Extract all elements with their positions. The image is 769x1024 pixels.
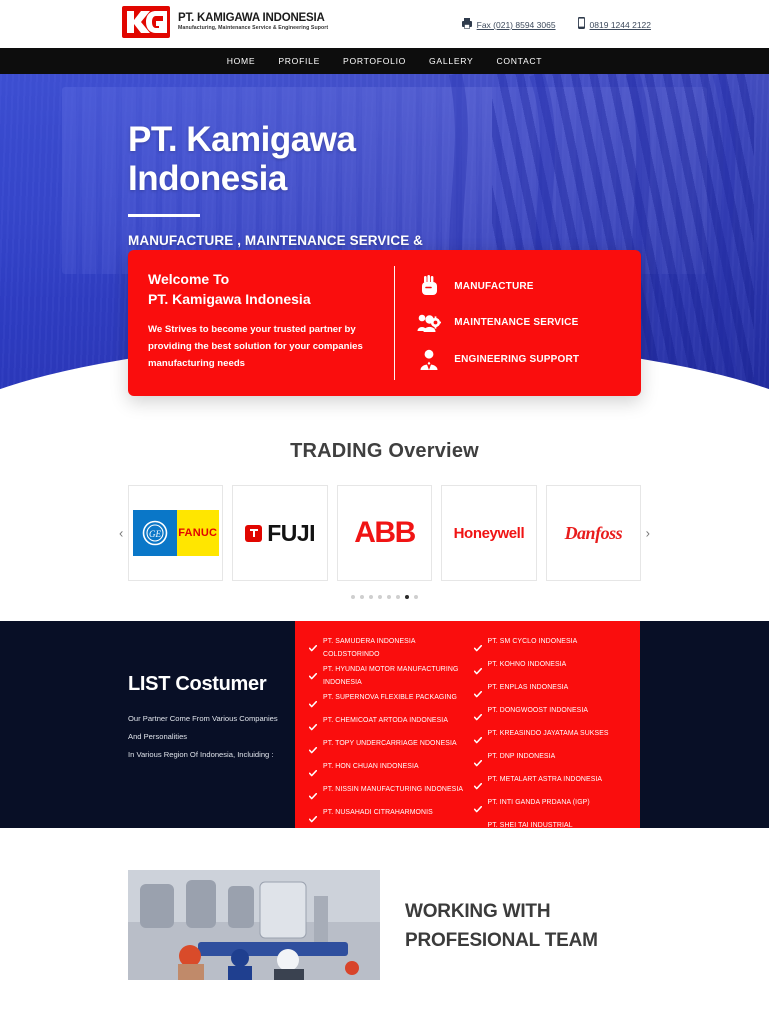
customer-name: PT. KREASINDO JAYATAMA SUKSES — [488, 727, 609, 740]
brand-logo[interactable]: PT. KAMIGAWA INDONESIA Manufacturing, Ma… — [122, 6, 328, 38]
working-heading-line1: WORKING WITH — [405, 901, 550, 922]
logo-card-abb[interactable]: ABB — [337, 485, 432, 581]
nav-item-profile[interactable]: PROFILE — [278, 56, 320, 66]
customer-column-1: PT. SAMUDERA INDONESIA COLDSTORINDOPT. H… — [309, 635, 466, 818]
customer-item: PT. CHEMICOAT ARTODA INDONESIA — [309, 714, 466, 736]
danfoss-wordmark: Danfoss — [565, 523, 623, 544]
carousel-dot-7[interactable] — [405, 595, 409, 599]
customer-item: PT. HYUNDAI MOTOR MANUFACTURING INDONESI… — [309, 663, 466, 690]
fist-icon — [417, 274, 441, 298]
welcome-card-wrapper: Welcome To PT. Kamigawa Indonesia We Str… — [0, 250, 769, 396]
honeywell-wordmark: Honeywell — [454, 525, 525, 542]
service-manufacture-label: MANUFACTURE — [454, 281, 533, 292]
check-icon — [474, 846, 482, 864]
carousel-dot-8[interactable] — [414, 595, 418, 599]
customer-list-section: LIST Costumer Our Partner Come From Vari… — [0, 621, 769, 828]
service-manufacture[interactable]: MANUFACTURE — [417, 274, 641, 298]
check-icon — [309, 639, 317, 657]
customer-item: PT. KOHNO INDONESIA — [474, 658, 631, 680]
customer-name: PT. KOHNO INDONESIA — [488, 658, 567, 671]
customer-item: PT. TOPY UNDERCARRIAGE NDONESIA — [309, 737, 466, 759]
services-list: MANUFACTURE — [395, 250, 641, 396]
hero-title-line1: PT. Kamigawa — [128, 120, 355, 159]
header-contacts: Fax (021) 8594 3065 0819 1244 2122 — [462, 16, 651, 34]
contact-mobile[interactable]: 0819 1244 2122 — [578, 16, 651, 34]
trading-title-strong: TRADING — [290, 440, 383, 462]
logo-card-fuji[interactable]: FUJI — [232, 485, 327, 581]
check-icon — [309, 718, 317, 736]
fax-icon — [462, 16, 472, 34]
carousel-dot-1[interactable] — [351, 595, 355, 599]
customer-item: PT. ENPLAS INDONESIA — [474, 681, 631, 703]
customer-name: PT. SAMUDERA INDONESIA COLDSTORINDO — [323, 635, 466, 662]
check-icon — [309, 741, 317, 759]
main-navigation: HOME PROFILE PORTOFOLIO GALLERY CONTACT — [0, 48, 769, 74]
working-with-heading: WORKING WITH PROFESIONAL TEAM — [405, 898, 598, 955]
check-icon — [474, 754, 482, 772]
check-icon — [474, 685, 482, 703]
check-icon — [309, 667, 317, 685]
customer-item: PT. SAMUDERA INDONESIA COLDSTORINDO — [309, 635, 466, 662]
customer-panel-filler — [640, 621, 769, 828]
working-with-text: WORKING WITH PROFESIONAL TEAM — [380, 870, 598, 955]
carousel-dot-4[interactable] — [378, 595, 382, 599]
customer-name: PT. HON CHUAN INDONESIA — [323, 760, 419, 773]
carousel-prev-icon[interactable]: ‹ — [119, 527, 123, 540]
customer-name: PT. NISSIN MANUFACTURING INDONESIA — [323, 783, 463, 796]
carousel-dots — [0, 595, 769, 599]
trading-title-rest: Overview — [383, 440, 479, 462]
nav-item-gallery[interactable]: GALLERY — [429, 56, 473, 66]
hero-divider — [128, 214, 200, 217]
customer-name: PT. CHEMICOAT ARTODA INDONESIA — [323, 714, 448, 727]
check-icon — [309, 787, 317, 805]
welcome-paragraph: We Strives to become your trusted partne… — [148, 322, 372, 372]
customer-intro: LIST Costumer Our Partner Come From Vari… — [0, 621, 295, 828]
carousel-dot-3[interactable] — [369, 595, 373, 599]
kgi-logo-icon — [122, 6, 170, 38]
brand-tagline: Manufacturing, Maintenance Service & Eng… — [178, 26, 328, 31]
mobile-phone-icon — [578, 16, 585, 34]
welcome-heading: Welcome To PT. Kamigawa Indonesia — [148, 270, 372, 309]
logo-card-honeywell[interactable]: Honeywell — [441, 485, 536, 581]
trading-overview-section: TRADING Overview ‹ GE FANUC — [0, 396, 769, 621]
brand-text: PT. KAMIGAWA INDONESIA Manufacturing, Ma… — [178, 12, 328, 32]
customer-intro-line2: And Personalities — [128, 728, 295, 746]
carousel-next-icon[interactable]: › — [646, 527, 650, 540]
nav-item-portofolio[interactable]: PORTOFOLIO — [343, 56, 406, 66]
fuji-wordmark: FUJI — [267, 520, 315, 547]
check-icon — [474, 823, 482, 841]
customer-name: PT. SHEI TAI INDUSTRIAL — [488, 819, 573, 832]
factory-workers-photo — [128, 870, 380, 980]
customer-item: PT. KREASINDO JAYATAMA SUKSES — [474, 727, 631, 749]
check-icon — [309, 764, 317, 782]
customer-item: PT. SUPERNOVA FLEXIBLE PACKAGING — [309, 691, 466, 713]
customer-name: PT. INTI GANDA PRDANA (IGP) — [488, 796, 590, 809]
check-icon — [474, 777, 482, 795]
customer-intro-line1: Our Partner Come From Various Companies — [128, 710, 295, 728]
customer-name: PT. PIOLAX INDONESIA — [323, 829, 402, 842]
customer-list-title: LIST Costumer — [128, 673, 295, 696]
service-maintenance[interactable]: MAINTENANCE SERVICE — [417, 311, 641, 335]
welcome-heading-line1: Welcome To — [148, 271, 229, 287]
abb-wordmark: ABB — [354, 516, 415, 550]
customer-name: PT. METALART ASTRA INDONESIA — [488, 773, 603, 786]
customer-column-2: PT. SM CYCLO INDONESIAPT. KOHNO INDONESI… — [474, 635, 631, 818]
customer-intro-line3: In Various Region Of Indonesia, Incluidi… — [128, 746, 295, 764]
nav-item-home[interactable]: HOME — [227, 56, 256, 66]
logo-carousel: ‹ GE FANUC FUJI — [128, 485, 641, 581]
carousel-dot-2[interactable] — [360, 595, 364, 599]
carousel-dot-5[interactable] — [387, 595, 391, 599]
customer-names-panel: PT. SAMUDERA INDONESIA COLDSTORINDOPT. H… — [295, 621, 640, 828]
customer-name: PT. DONGWOOST INDONESIA — [488, 704, 589, 717]
fanuc-wordmark: FANUC — [177, 510, 219, 556]
customer-item: PT. DNP INDONESIA — [474, 750, 631, 772]
welcome-card: Welcome To PT. Kamigawa Indonesia We Str… — [128, 250, 641, 396]
contact-fax-label[interactable]: Fax (021) 8594 3065 — [477, 20, 556, 30]
fuji-emblem-icon — [245, 525, 262, 542]
ge-fanuc-logo: GE FANUC — [133, 510, 219, 556]
customer-item: PT. NUSAHADI CITRAHARMONIS — [309, 806, 466, 828]
customer-name: PT. ENPLAS INDONESIA — [488, 681, 569, 694]
people-gear-icon — [417, 311, 441, 335]
brand-name: PT. KAMIGAWA INDONESIA — [178, 12, 328, 24]
svg-text:GE: GE — [149, 529, 161, 539]
customer-intro-text: Our Partner Come From Various Companies … — [128, 710, 295, 764]
customer-item: PT. INTI GANDA PRDANA (IGP) — [474, 796, 631, 818]
customer-name: PT. SUPERNOVA FLEXIBLE PACKAGING — [323, 691, 457, 704]
customer-name: PT. SM CYCLO INDONESIA — [488, 635, 578, 648]
fuji-logo: FUJI — [245, 520, 315, 547]
contact-fax[interactable]: Fax (021) 8594 3065 — [462, 16, 556, 34]
trading-overview-title: TRADING Overview — [0, 440, 769, 463]
engineer-person-icon — [417, 348, 441, 372]
welcome-divider — [394, 266, 395, 380]
customer-item: PT. DONGWOOST INDONESIA — [474, 704, 631, 726]
customer-item: PT. HON CHUAN INDONESIA — [309, 760, 466, 782]
check-icon — [474, 708, 482, 726]
customer-item: PT. CAP MOLD ENGINEERING INDONESIA — [474, 842, 631, 864]
customer-name: PT. HYUNDAI MOTOR MANUFACTURING INDONESI… — [323, 663, 466, 690]
check-icon — [474, 800, 482, 818]
customer-name: PT. DNP INDONESIA — [488, 750, 556, 763]
welcome-left: Welcome To PT. Kamigawa Indonesia We Str… — [128, 250, 394, 396]
welcome-heading-line2: PT. Kamigawa Indonesia — [148, 291, 311, 307]
customer-item: PT. NISSIN MANUFACTURING INDONESIA — [309, 783, 466, 805]
ge-monogram-icon: GE — [133, 510, 177, 556]
check-icon — [474, 662, 482, 680]
logo-card-ge-fanuc[interactable]: GE FANUC — [128, 485, 223, 581]
check-icon — [309, 833, 317, 851]
customer-item: PT. SHEI TAI INDUSTRIAL — [474, 819, 631, 841]
check-icon — [474, 639, 482, 657]
hero-title-line2: Indonesia — [128, 159, 287, 198]
carousel-dot-6[interactable] — [396, 595, 400, 599]
customer-item: PT. PIOLAX INDONESIA — [309, 829, 466, 851]
service-maintenance-label: MAINTENANCE SERVICE — [454, 317, 578, 328]
customer-name: PT. TOPY UNDERCARRIAGE NDONESIA — [323, 737, 457, 750]
customer-item: PT. METALART ASTRA INDONESIA — [474, 773, 631, 795]
service-engineering-label: ENGINEERING SUPPORT — [454, 354, 579, 365]
working-heading-line2: PROFESIONAL TEAM — [405, 930, 598, 951]
customer-name: PT. CAP MOLD ENGINEERING INDONESIA — [488, 842, 629, 855]
top-bar: PT. KAMIGAWA INDONESIA Manufacturing, Ma… — [0, 0, 769, 48]
service-engineering[interactable]: ENGINEERING SUPPORT — [417, 348, 641, 372]
contact-mobile-label[interactable]: 0819 1244 2122 — [590, 20, 651, 30]
logo-card-danfoss[interactable]: Danfoss — [546, 485, 641, 581]
hero-title: PT. Kamigawa Indonesia — [128, 120, 769, 198]
check-icon — [309, 695, 317, 713]
nav-item-contact[interactable]: CONTACT — [496, 56, 542, 66]
check-icon — [474, 731, 482, 749]
customer-name: PT. NUSAHADI CITRAHARMONIS — [323, 806, 433, 819]
customer-item: PT. SM CYCLO INDONESIA — [474, 635, 631, 657]
check-icon — [309, 810, 317, 828]
